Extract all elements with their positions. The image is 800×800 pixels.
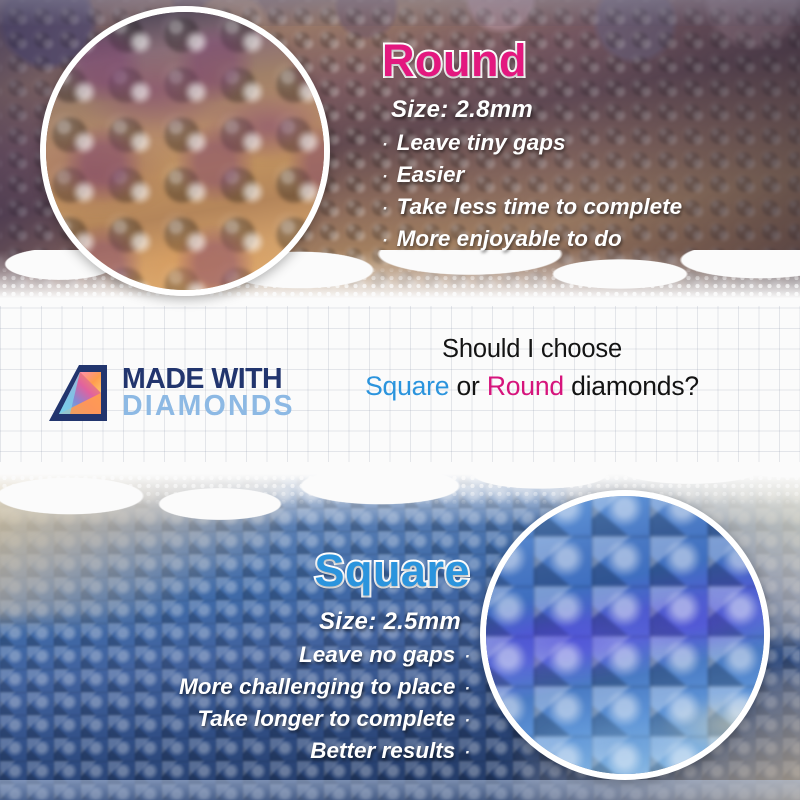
square-diamonds-magnifier-inset — [480, 490, 770, 780]
square-inset-bead-highlights — [480, 490, 770, 780]
round-bullet-item: · Leave tiny gaps — [382, 127, 800, 159]
square-bullet-item: Leave no gaps · — [10, 639, 470, 671]
square-section-title: Square — [10, 548, 470, 593]
round-diamonds-magnifier-inset — [40, 6, 330, 296]
question-round-word: Round — [487, 371, 564, 401]
round-bullet-item: · More enjoyable to do — [382, 223, 800, 255]
question-tail-word: diamonds? — [564, 371, 699, 401]
question-square-word: Square — [365, 371, 449, 401]
bullet-dot-icon: · — [382, 168, 388, 185]
square-bullet-item: More challenging to place · — [10, 671, 470, 703]
round-feature-list: · Size: 2.8mm · Leave tiny gaps · Easier… — [382, 93, 800, 255]
square-bullet-label: Better results — [310, 735, 455, 767]
brand-logo[interactable]: MADE WITH DIAMONDS — [46, 362, 295, 424]
bullet-dot-icon: · — [382, 136, 388, 153]
round-bullet-label: Take less time to complete — [397, 191, 683, 223]
square-bullet-item: Take longer to complete · — [10, 703, 470, 735]
question-line-1: Should I choose — [332, 333, 732, 366]
square-bullet-label: More challenging to place — [179, 671, 455, 703]
round-inset-bead-highlights — [40, 6, 330, 296]
round-bullet-label: Leave tiny gaps — [397, 127, 566, 159]
square-bullet-label: Leave no gaps — [299, 639, 455, 671]
logo-line-2: DIAMONDS — [122, 393, 295, 420]
diamond-logo-mark-icon — [46, 362, 110, 424]
square-size-label: Size: 2.5mm — [319, 605, 461, 639]
bullet-dot-icon: · — [464, 744, 470, 761]
infographic-canvas: Round · Size: 2.8mm · Leave tiny gaps · … — [0, 0, 800, 800]
question-line-2: Square or Round diamonds? — [332, 369, 732, 403]
round-bullet-item: · Easier — [382, 159, 800, 191]
question-block: Should I choose Square or Round diamonds… — [332, 333, 732, 404]
square-section-text: Square Size: 2.5mm · Leave no gaps · Mor… — [10, 548, 470, 767]
logo-wordmark: MADE WITH DIAMONDS — [122, 366, 295, 421]
bullet-dot-icon: · — [464, 648, 470, 665]
bullet-dot-icon: · — [382, 200, 388, 217]
bullet-dot-icon: · — [464, 680, 470, 697]
round-section-title: Round — [382, 38, 800, 83]
question-or-word: or — [449, 371, 487, 401]
round-bullet-item: · Take less time to complete — [382, 191, 800, 223]
bullet-dot-icon: · — [464, 712, 470, 729]
round-size-label: Size: 2.8mm — [391, 93, 533, 127]
round-bullet-label: Easier — [397, 159, 465, 191]
logo-line-1: MADE WITH — [122, 366, 295, 393]
round-size-item: · Size: 2.8mm — [382, 93, 800, 127]
square-size-item: Size: 2.5mm · — [10, 605, 470, 639]
bullet-dot-icon: · — [382, 232, 388, 249]
square-bullet-label: Take longer to complete — [197, 703, 455, 735]
square-bullet-item: Better results · — [10, 735, 470, 767]
round-bullet-label: More enjoyable to do — [397, 223, 622, 255]
square-feature-list: Size: 2.5mm · Leave no gaps · More chall… — [10, 605, 470, 767]
round-section-text: Round · Size: 2.8mm · Leave tiny gaps · … — [382, 38, 800, 255]
bottom-edge-strip — [0, 780, 800, 800]
